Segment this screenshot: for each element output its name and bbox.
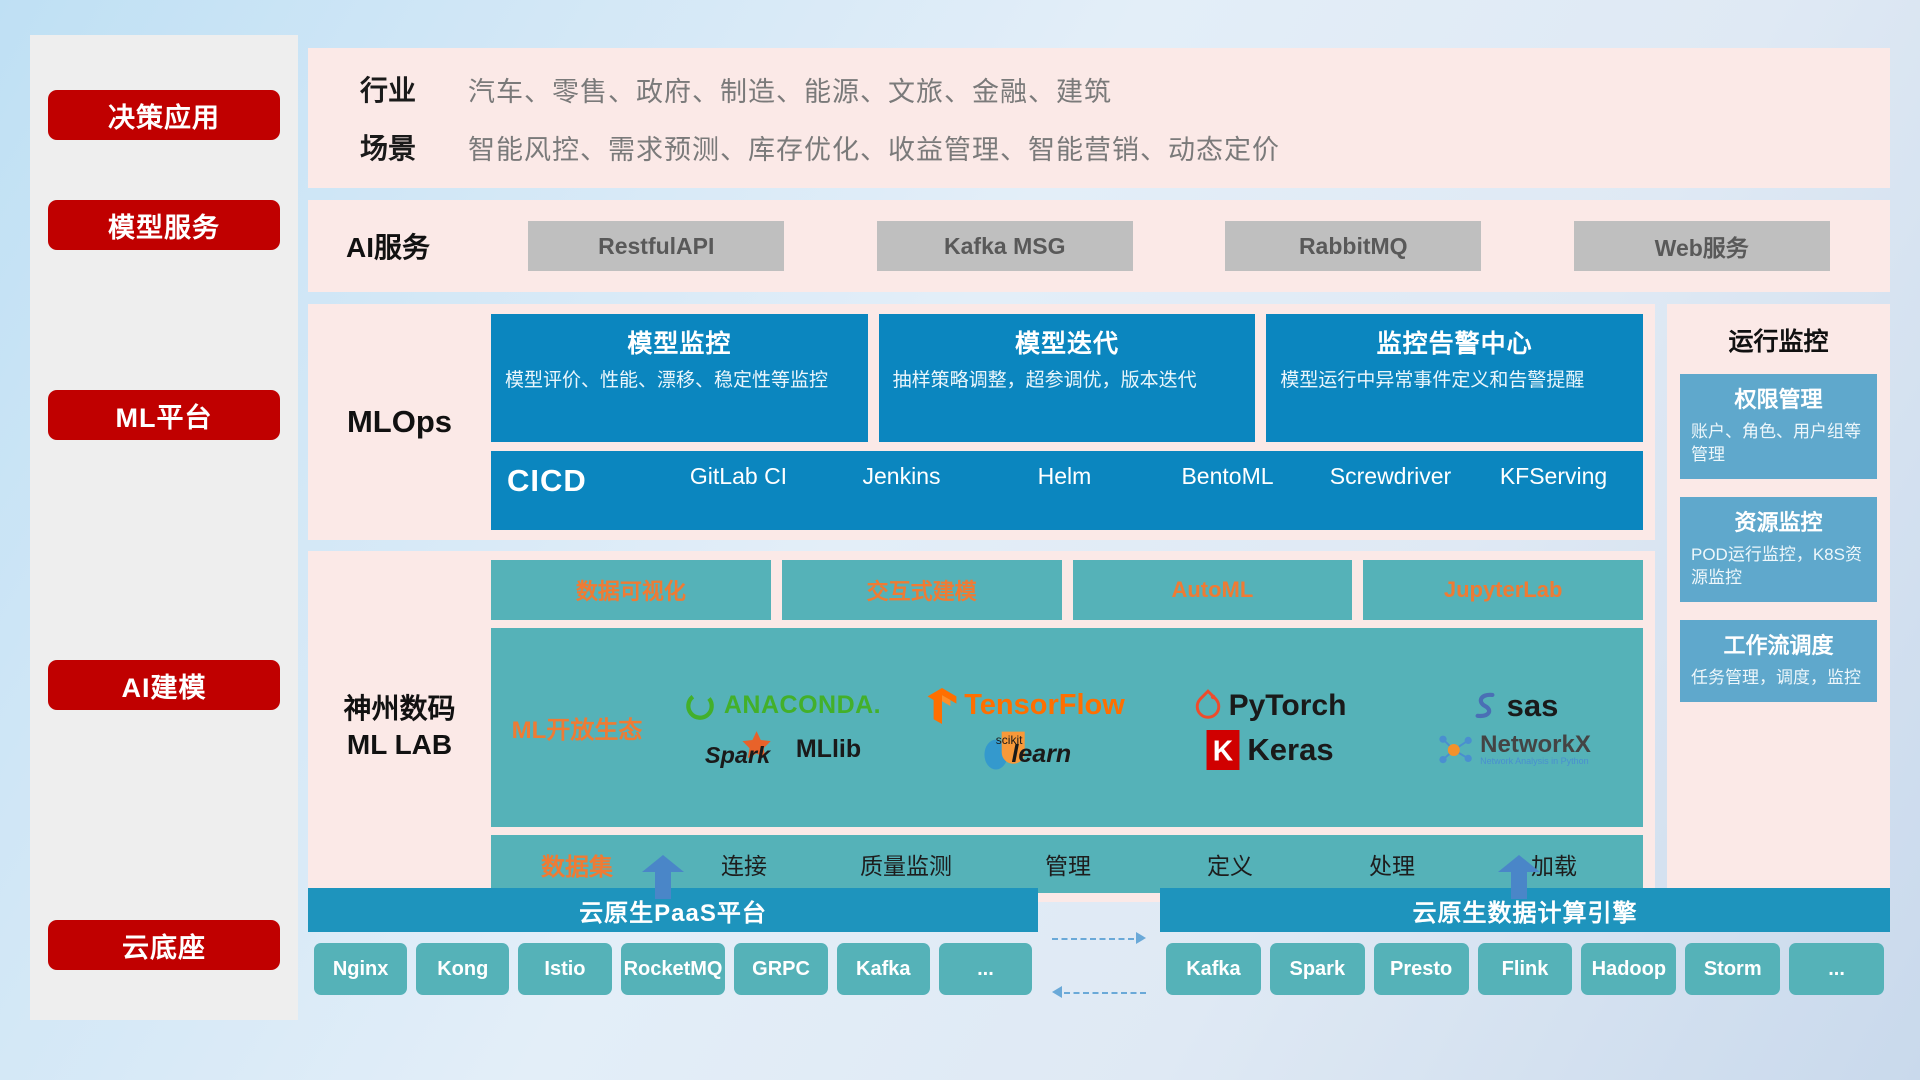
cicd-item-screwdriver[interactable]: Screwdriver <box>1309 463 1472 489</box>
pytorch-logo: PyTorch <box>1194 689 1347 723</box>
cicd-item-kfserving[interactable]: KFServing <box>1472 463 1635 489</box>
industry-row: 行业 汽车、零售、政府、制造、能源、文旅、金融、建筑 <box>308 60 1890 118</box>
layer-chip-model-service[interactable]: 模型服务 <box>48 200 280 250</box>
cicd-title: CICD <box>507 463 657 499</box>
layer-chip-ai-modeling[interactable]: AI建模 <box>48 660 280 710</box>
ml-open-ecosystem-label: ML开放生态 <box>491 710 663 745</box>
mlops-card-list: 模型监控 模型评价、性能、漂移、稳定性等监控 模型迭代 抽样策略调整，超参调优，… <box>491 314 1643 442</box>
networkx-logo-text: NetworkX <box>1480 733 1591 757</box>
compute-chip-presto[interactable]: Presto <box>1374 943 1469 995</box>
main-column: 行业 汽车、零售、政府、制造、能源、文旅、金融、建筑 场景 智能风控、需求预测、… <box>308 48 1890 1023</box>
keras-logo-text: Keras <box>1247 732 1333 768</box>
scenario-label: 场景 <box>308 127 468 167</box>
cicd-item-helm[interactable]: Helm <box>983 463 1146 489</box>
spark-mllib-logo-text: MLlib <box>796 735 861 764</box>
monitor-card-workflow[interactable]: 工作流调度 任务管理，调度，监控 <box>1680 620 1877 702</box>
paas-platform-column: 云原生PaaS平台 Nginx Kong Istio RocketMQ GRPC… <box>308 888 1038 995</box>
monitor-card-permission[interactable]: 权限管理 账户、角色、用户组等管理 <box>1680 374 1877 479</box>
paas-chip-nginx[interactable]: Nginx <box>314 943 407 995</box>
monitor-card-resource[interactable]: 资源监控 POD运行监控，K8S资源监控 <box>1680 497 1877 602</box>
card-desc: 任务管理，调度，监控 <box>1691 667 1866 690</box>
ai-service-chip-restfulapi[interactable]: RestfulAPI <box>528 221 784 271</box>
compute-chip-list: Kafka Spark Presto Flink Hadoop Storm ..… <box>1160 932 1890 995</box>
cloud-foundation-band: 云原生PaaS平台 Nginx Kong Istio RocketMQ GRPC… <box>308 888 1890 1028</box>
industry-value: 汽车、零售、政府、制造、能源、文旅、金融、建筑 <box>468 70 1112 109</box>
sas-logo: sas <box>1470 688 1559 724</box>
ml-lab-tool-list: 数据可视化 交互式建模 AutoML JupyterLab <box>491 560 1643 620</box>
ml-open-ecosystem: ML开放生态 ANACONDA. <box>491 628 1643 827</box>
card-title: 工作流调度 <box>1691 628 1866 660</box>
card-title: 模型迭代 <box>893 324 1242 360</box>
upward-arrow-compute <box>1498 855 1540 899</box>
svg-text:K: K <box>1213 734 1234 766</box>
cicd-item-bentoml[interactable]: BentoML <box>1146 463 1309 489</box>
layer-rail: 决策应用 模型服务 ML平台 AI建模 云底座 <box>30 35 298 1020</box>
connector-line-top <box>1052 938 1134 940</box>
ai-service-label: AI服务 <box>308 226 468 266</box>
dataset-item-connect[interactable]: 连接 <box>663 847 825 881</box>
ml-lab-tool-data-visualization[interactable]: 数据可视化 <box>491 560 771 620</box>
dataset-item-manage[interactable]: 管理 <box>987 847 1149 881</box>
card-title: 监控告警中心 <box>1280 324 1629 360</box>
ai-service-band: AI服务 RestfulAPI Kafka MSG RabbitMQ Web服务 <box>308 200 1890 292</box>
networkx-tagline: Network Analysis in Python <box>1480 757 1591 766</box>
compute-chip-flink[interactable]: Flink <box>1478 943 1573 995</box>
networkx-logo: NetworkX Network Analysis in Python <box>1437 733 1591 767</box>
paas-chip-list: Nginx Kong Istio RocketMQ GRPC Kafka ... <box>308 932 1038 995</box>
ml-lab-label: 神州数码 ML LAB <box>308 551 491 902</box>
ml-lab-tool-interactive-modeling[interactable]: 交互式建模 <box>782 560 1062 620</box>
paas-chip-kafka[interactable]: Kafka <box>837 943 930 995</box>
card-desc: POD运行监控，K8S资源监控 <box>1691 544 1866 590</box>
scenario-row: 场景 智能风控、需求预测、库存优化、收益管理、智能营销、动态定价 <box>308 118 1890 176</box>
ml-lab-label-line1: 神州数码 <box>343 691 455 727</box>
mlops-card-model-monitoring[interactable]: 模型监控 模型评价、性能、漂移、稳定性等监控 <box>491 314 868 442</box>
paas-chip-rocketmq[interactable]: RocketMQ <box>621 943 726 995</box>
paas-chip-istio[interactable]: Istio <box>518 943 611 995</box>
ai-service-chip-kafka-msg[interactable]: Kafka MSG <box>877 221 1133 271</box>
mlops-label: MLOps <box>308 304 491 540</box>
dataset-item-quality[interactable]: 质量监测 <box>825 847 987 881</box>
tensorflow-logo: TensorFlow <box>927 688 1125 724</box>
card-desc: 模型评价、性能、漂移、稳定性等监控 <box>505 368 854 394</box>
spark-mllib-logo: Spark MLlib <box>703 730 861 770</box>
scikit-learn-logo-text: learn <box>1011 740 1071 769</box>
architecture-diagram: 决策应用 模型服务 ML平台 AI建模 云底座 行业 汽车、零售、政府、制造、能… <box>0 0 1920 1080</box>
card-title: 权限管理 <box>1691 382 1866 414</box>
ml-lab-band: 神州数码 ML LAB 数据可视化 交互式建模 AutoML JupyterLa… <box>308 551 1655 902</box>
compute-chip-storm[interactable]: Storm <box>1685 943 1780 995</box>
ai-service-chip-rabbitmq[interactable]: RabbitMQ <box>1225 221 1481 271</box>
mlops-card-alert-center[interactable]: 监控告警中心 模型运行中异常事件定义和告警提醒 <box>1266 314 1643 442</box>
cicd-bar: CICD GitLab CI Jenkins Helm BentoML Scre… <box>491 451 1643 530</box>
mlops-card-model-iteration[interactable]: 模型迭代 抽样策略调整，超参调优，版本迭代 <box>879 314 1256 442</box>
paas-chip-kong[interactable]: Kong <box>416 943 509 995</box>
layer-chip-cloud-base[interactable]: 云底座 <box>48 920 280 970</box>
data-compute-engine-column: 云原生数据计算引擎 Kafka Spark Presto Flink Hadoo… <box>1160 888 1890 995</box>
keras-logo: K Keras <box>1206 730 1333 770</box>
dataset-item-define[interactable]: 定义 <box>1149 847 1311 881</box>
connector-arrow-right <box>1136 932 1146 944</box>
cicd-item-jenkins[interactable]: Jenkins <box>820 463 983 489</box>
ml-lab-tool-automl[interactable]: AutoML <box>1073 560 1353 620</box>
dataset-label: 数据集 <box>491 847 663 882</box>
upward-arrow-paas <box>642 855 684 899</box>
card-title: 模型监控 <box>505 324 854 360</box>
compute-chip-spark[interactable]: Spark <box>1270 943 1365 995</box>
paas-chip-more[interactable]: ... <box>939 943 1032 995</box>
sas-logo-text: sas <box>1507 688 1559 724</box>
card-desc: 账户、角色、用户组等管理 <box>1691 421 1866 467</box>
scenario-value: 智能风控、需求预测、库存优化、收益管理、智能营销、动态定价 <box>468 128 1280 167</box>
runtime-monitoring-title: 运行监控 <box>1680 322 1877 358</box>
industry-scenario-band: 行业 汽车、零售、政府、制造、能源、文旅、金融、建筑 场景 智能风控、需求预测、… <box>308 48 1890 188</box>
anaconda-logo-text: ANACONDA. <box>724 691 881 720</box>
ai-service-chip-web[interactable]: Web服务 <box>1574 221 1830 271</box>
runtime-monitoring-panel: 运行监控 权限管理 账户、角色、用户组等管理 资源监控 POD运行监控，K8S资… <box>1667 304 1890 902</box>
layer-chip-decision[interactable]: 决策应用 <box>48 90 280 140</box>
cicd-item-gitlab-ci[interactable]: GitLab CI <box>657 463 820 489</box>
compute-chip-hadoop[interactable]: Hadoop <box>1581 943 1676 995</box>
mlops-band: MLOps 模型监控 模型评价、性能、漂移、稳定性等监控 模型迭代 抽样策略调整… <box>308 304 1655 540</box>
scikit-learn-logo: scikit learn <box>981 729 1071 771</box>
svg-text:Spark: Spark <box>705 741 772 767</box>
layer-chip-ml-platform[interactable]: ML平台 <box>48 390 280 440</box>
connector-arrow-left <box>1052 986 1062 998</box>
compute-chip-more[interactable]: ... <box>1789 943 1884 995</box>
tensorflow-logo-text: TensorFlow <box>964 689 1125 722</box>
dataset-item-process[interactable]: 处理 <box>1311 847 1473 881</box>
ml-lab-tool-jupyterlab[interactable]: JupyterLab <box>1363 560 1643 620</box>
card-desc: 模型运行中异常事件定义和告警提醒 <box>1280 368 1629 394</box>
card-title: 资源监控 <box>1691 505 1866 537</box>
anaconda-logo: ANACONDA. <box>683 689 881 723</box>
paas-chip-grpc[interactable]: GRPC <box>734 943 827 995</box>
industry-label: 行业 <box>308 69 468 109</box>
connector-line-bottom <box>1064 992 1146 994</box>
ai-service-chip-list: RestfulAPI Kafka MSG RabbitMQ Web服务 <box>468 221 1890 271</box>
compute-chip-kafka[interactable]: Kafka <box>1166 943 1261 995</box>
pytorch-logo-text: PyTorch <box>1229 689 1347 723</box>
card-desc: 抽样策略调整，超参调优，版本迭代 <box>893 368 1242 394</box>
ml-lab-label-line2: ML LAB <box>347 727 452 763</box>
